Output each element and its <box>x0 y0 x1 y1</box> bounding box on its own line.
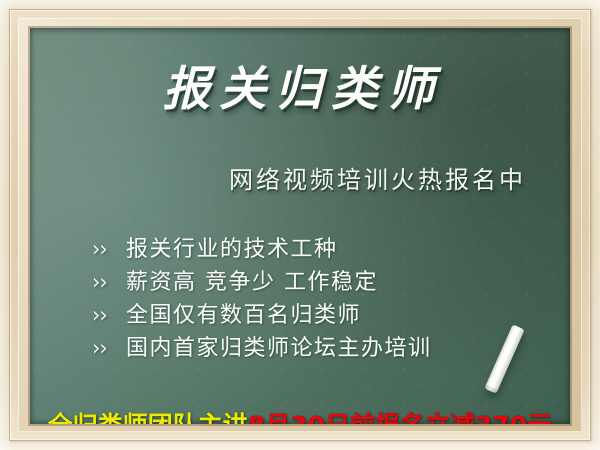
list-item: ›› 报关行业的技术工种 <box>92 231 570 264</box>
promo-discount-text: 8月30日前报名立减370元 <box>248 411 552 424</box>
page-title: 报关归类师 <box>88 66 518 114</box>
chalkboard-poster: 报关归类师 网络视频培训火热报名中 ›› 报关行业的技术工种 ›› 薪资高 竞争… <box>0 0 600 450</box>
list-item-label: 全国仅有数百名归类师 <box>126 297 361 329</box>
list-item: ›› 全国仅有数百名归类师 <box>92 297 570 330</box>
double-chevron-right-icon: ›› <box>92 237 126 261</box>
list-item: ›› 薪资高 竞争少 工作稳定 <box>92 264 570 297</box>
list-item-label: 报关行业的技术工种 <box>126 231 338 263</box>
chalkboard-surface: 报关归类师 网络视频培训火热报名中 ›› 报关行业的技术工种 ›› 薪资高 竞争… <box>30 28 570 424</box>
promo-banner: 全归类师团队主讲8月30日前报名立减370元 <box>30 406 570 424</box>
feature-list: ›› 报关行业的技术工种 ›› 薪资高 竞争少 工作稳定 ›› 全国仅有数百名归… <box>92 231 570 363</box>
double-chevron-right-icon: ›› <box>92 270 126 294</box>
double-chevron-right-icon: ›› <box>92 336 126 360</box>
list-item-label: 国内首家归类师论坛主办培训 <box>126 330 432 362</box>
list-item-label: 薪资高 竞争少 工作稳定 <box>126 264 378 296</box>
subtitle: 网络视频培训火热报名中 <box>30 160 526 195</box>
promo-highlight-text: 全归类师团队主讲 <box>48 411 248 424</box>
double-chevron-right-icon: ›› <box>92 303 126 327</box>
